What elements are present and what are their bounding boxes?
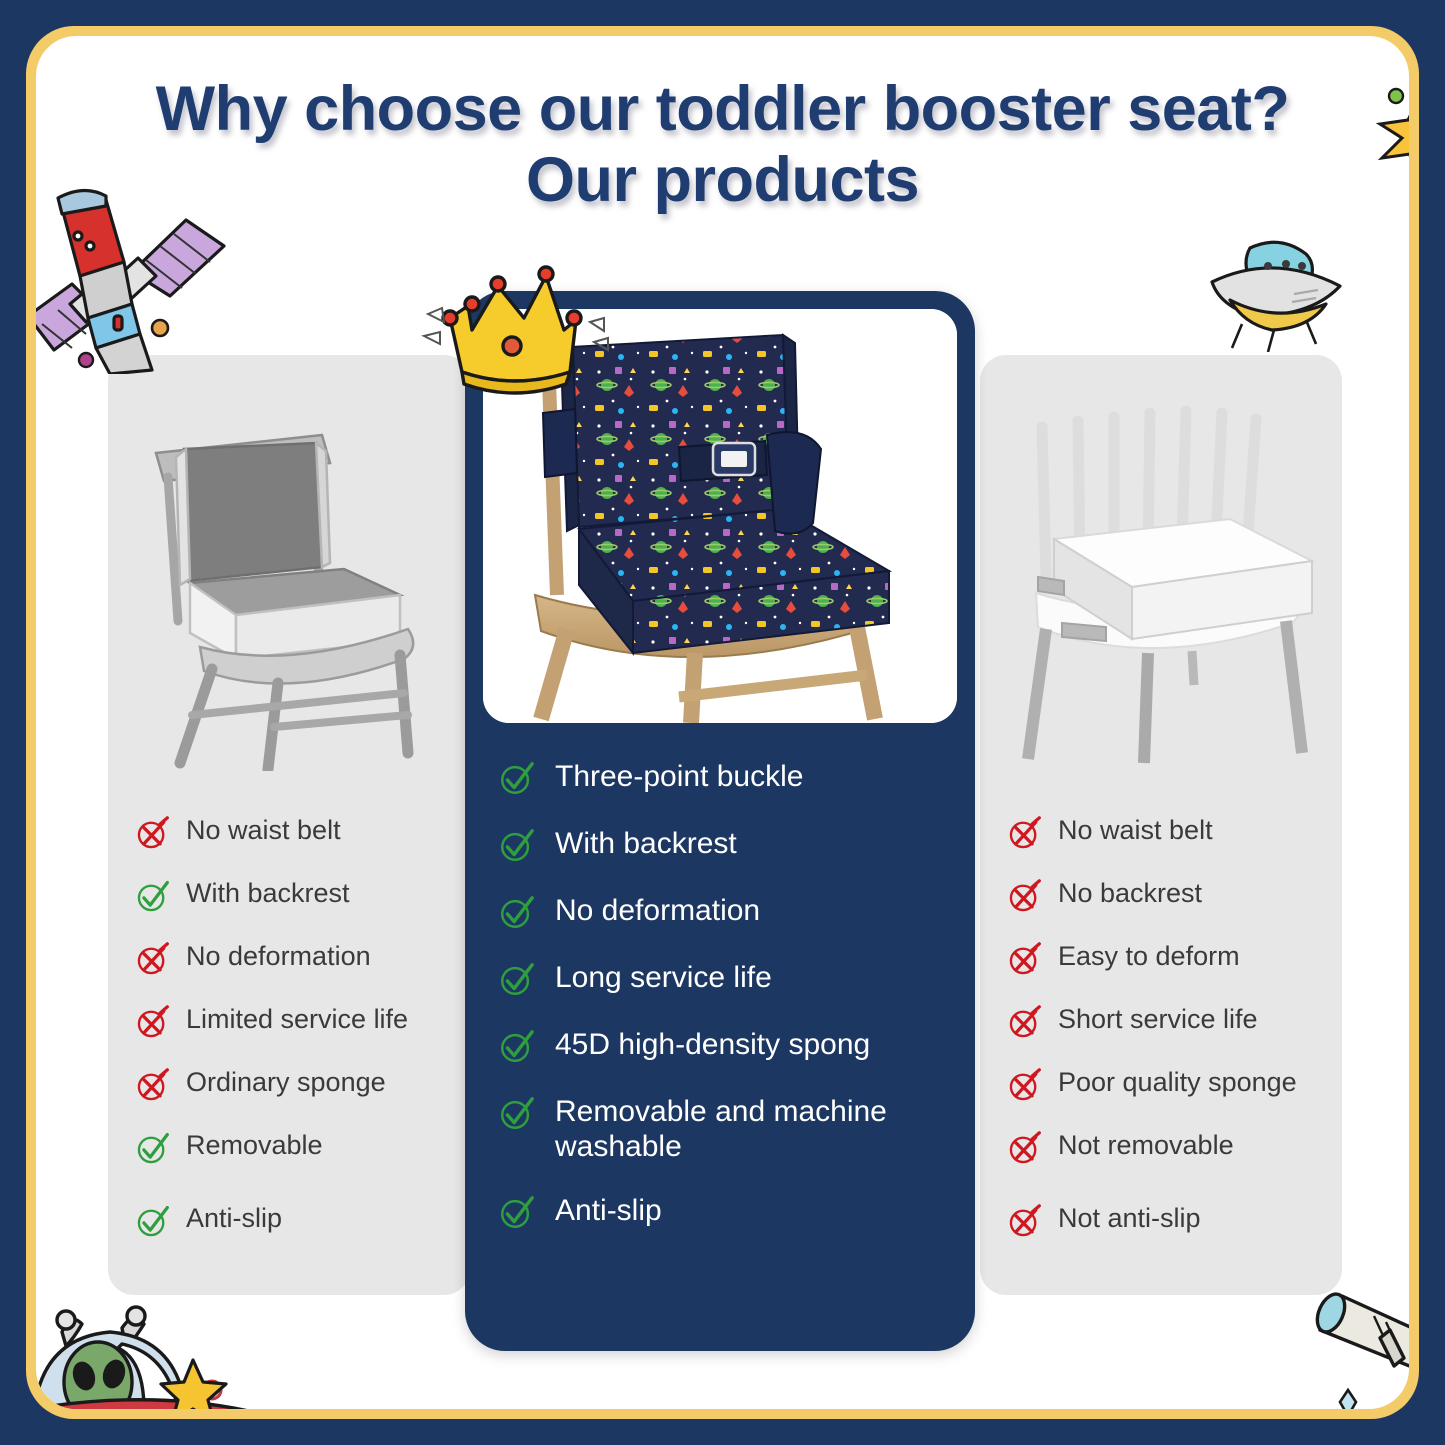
check-circle-icon (497, 827, 535, 865)
feature-row: Ordinary sponge (134, 1067, 454, 1104)
check-circle-icon (134, 879, 170, 915)
competitor-right-feature-list: No waist beltNo backrestEasy to deformSh… (980, 815, 1342, 1266)
competitor-left-panel: No waist beltWith backrestNo deformation… (108, 355, 470, 1295)
feature-row: Long service life (497, 960, 953, 999)
check-circle-icon (497, 760, 535, 798)
feature-row: No backrest (1006, 878, 1326, 915)
cross-circle-icon (134, 1005, 170, 1041)
feature-label: Ordinary sponge (186, 1067, 386, 1099)
feature-label: Removable and machine washable (555, 1094, 953, 1165)
feature-row: With backrest (134, 878, 454, 915)
our-product-card: Three-point buckleWith backrestNo deform… (465, 291, 975, 1351)
feature-row: Three-point buckle (497, 759, 953, 798)
cross-circle-icon (134, 942, 170, 978)
feature-label: With backrest (555, 826, 737, 861)
our-product-photo (483, 309, 957, 723)
competitor-left-feature-list: No waist beltWith backrestNo deformation… (108, 815, 470, 1266)
comparison-section: No waist beltWith backrestNo deformation… (36, 36, 1409, 1409)
feature-label: Limited service life (186, 1004, 408, 1036)
feature-row: Easy to deform (1006, 941, 1326, 978)
cross-circle-icon (1006, 1068, 1042, 1104)
feature-row: Anti-slip (134, 1203, 454, 1240)
cross-circle-icon (1006, 1131, 1042, 1167)
feature-row: No deformation (134, 941, 454, 978)
cross-circle-icon (134, 816, 170, 852)
feature-label: No deformation (186, 941, 371, 973)
feature-label: No waist belt (1058, 815, 1213, 847)
feature-row: Not removable (1006, 1130, 1326, 1167)
feature-row: 45D high-density spong (497, 1027, 953, 1066)
feature-label: Long service life (555, 960, 772, 995)
feature-label: No backrest (1058, 878, 1202, 910)
feature-label: Poor quality sponge (1058, 1067, 1297, 1099)
cross-circle-icon (1006, 816, 1042, 852)
feature-label: Easy to deform (1058, 941, 1240, 973)
feature-label: 45D high-density spong (555, 1027, 870, 1062)
feature-label: Short service life (1058, 1004, 1258, 1036)
cross-circle-icon (1006, 879, 1042, 915)
check-circle-icon (134, 1131, 170, 1167)
feature-row: Not anti-slip (1006, 1203, 1326, 1240)
competitor-left-photo (108, 371, 470, 771)
our-product-feature-list: Three-point buckleWith backrestNo deform… (465, 759, 975, 1260)
cross-circle-icon (1006, 1005, 1042, 1041)
competitor-right-panel: No waist beltNo backrestEasy to deformSh… (980, 355, 1342, 1295)
feature-label: No waist belt (186, 815, 341, 847)
check-circle-icon (497, 1095, 535, 1133)
feature-label: Anti-slip (555, 1193, 662, 1228)
feature-row: Removable and machine washable (497, 1094, 953, 1165)
feature-row: With backrest (497, 826, 953, 865)
feature-row: Removable (134, 1130, 454, 1167)
feature-label: With backrest (186, 878, 350, 910)
check-circle-icon (497, 894, 535, 932)
outer-border: Why choose our toddler booster seat? Our… (0, 0, 1445, 1445)
feature-label: Anti-slip (186, 1203, 282, 1235)
feature-label: Not anti-slip (1058, 1203, 1201, 1235)
feature-row: Limited service life (134, 1004, 454, 1041)
cross-circle-icon (134, 1068, 170, 1104)
check-circle-icon (497, 1194, 535, 1232)
feature-row: No deformation (497, 893, 953, 932)
cross-circle-icon (1006, 1204, 1042, 1240)
feature-row: Short service life (1006, 1004, 1326, 1041)
feature-label: Removable (186, 1130, 323, 1162)
cross-circle-icon (1006, 942, 1042, 978)
check-circle-icon (134, 1204, 170, 1240)
feature-row: No waist belt (1006, 815, 1326, 852)
feature-label: Not removable (1058, 1130, 1234, 1162)
competitor-right-photo (980, 371, 1342, 771)
feature-row: Poor quality sponge (1006, 1067, 1326, 1104)
feature-label: No deformation (555, 893, 760, 928)
feature-row: No waist belt (134, 815, 454, 852)
check-circle-icon (497, 1028, 535, 1066)
poster-canvas: Why choose our toddler booster seat? Our… (36, 36, 1409, 1409)
feature-label: Three-point buckle (555, 759, 803, 794)
check-circle-icon (497, 961, 535, 999)
feature-row: Anti-slip (497, 1193, 953, 1232)
